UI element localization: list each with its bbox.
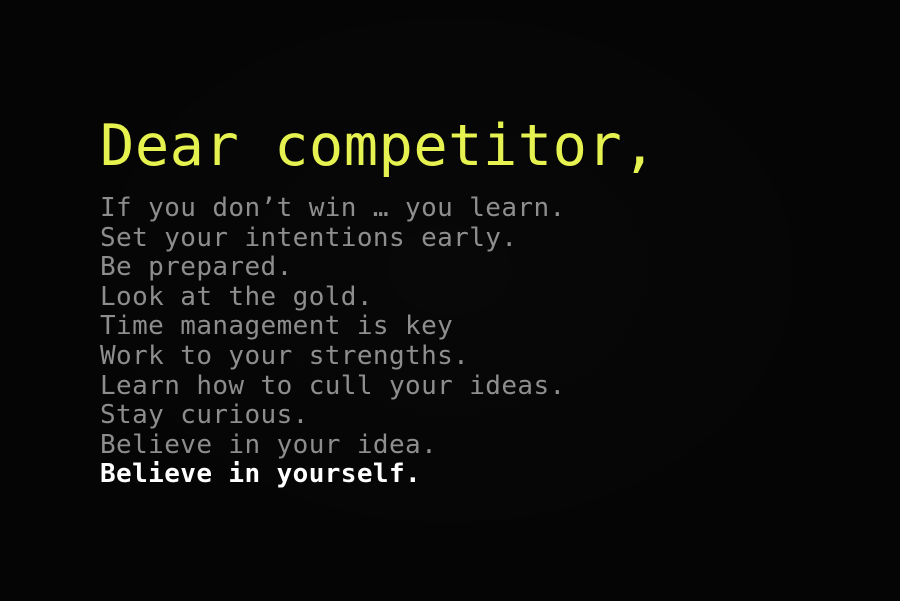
advice-line: Believe in your idea. [100,431,860,461]
poster-heading: Dear competitor, [100,113,860,179]
advice-line: Set your intentions early. [100,224,860,254]
advice-line: Learn how to cull your ideas. [100,372,860,402]
advice-line: Time management is key [100,312,860,342]
poster-canvas: Dear competitor, If you don’t win … you … [0,0,900,601]
advice-line: Be prepared. [100,253,860,283]
advice-line: Believe in yourself. [100,460,860,490]
advice-line: Stay curious. [100,401,860,431]
poster-text-block: Dear competitor, If you don’t win … you … [100,113,860,490]
advice-line: Work to your strengths. [100,342,860,372]
advice-line: Look at the gold. [100,283,860,313]
advice-line: If you don’t win … you learn. [100,194,860,224]
advice-list: If you don’t win … you learn.Set your in… [100,194,860,490]
